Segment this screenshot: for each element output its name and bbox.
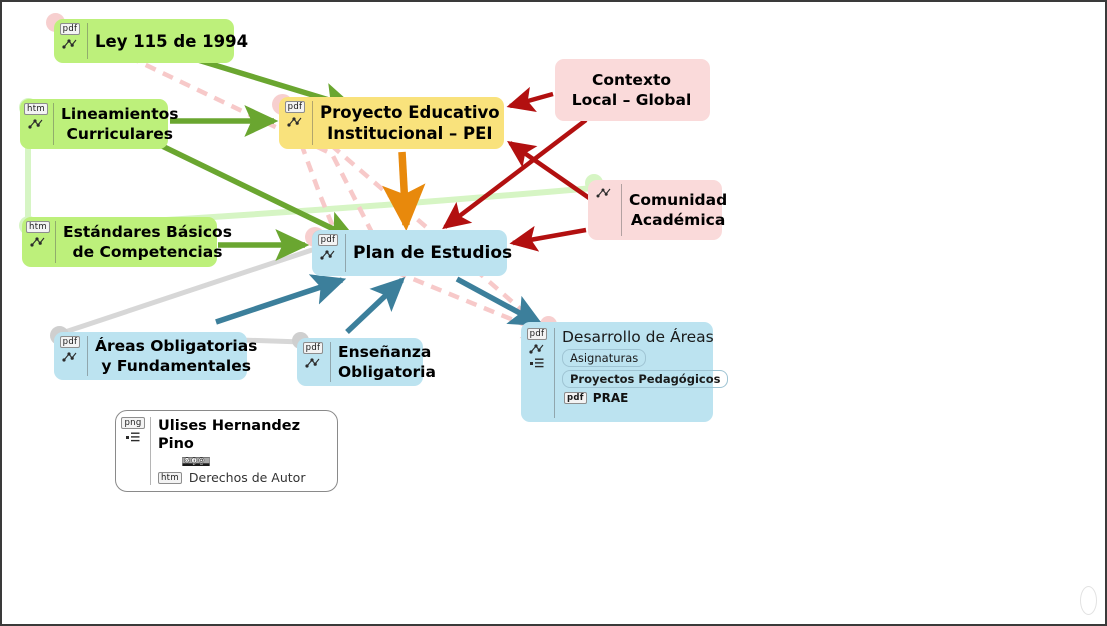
node-gutter: pdf	[316, 234, 346, 272]
node-title-line: de Competencias	[63, 242, 232, 262]
node-title-line: Obligatoria	[338, 362, 436, 382]
author-license-link-label: Derechos de Autor	[189, 470, 306, 485]
node-proyecto-educativo-institucional[interactable]: pdf Proyecto Educativo Institucional – P…	[279, 97, 504, 149]
network-link-icon	[62, 350, 78, 363]
node-desarrollo-de-areas[interactable]: pdf Desarrollo de Áreas Asignaturas Proy…	[521, 322, 713, 422]
edge-areas-plan-arrow	[216, 280, 342, 322]
node-title-line: Áreas Obligatorias	[95, 336, 257, 356]
edge-comunidad-plan	[513, 230, 586, 243]
edge-comunidad-pei	[510, 143, 592, 200]
node-title-line: Curriculares	[61, 124, 179, 144]
creative-commons-badge-icon[interactable]: CC BY SA	[158, 457, 234, 466]
network-link-icon	[28, 117, 44, 130]
file-type-tag: pdf	[60, 336, 81, 348]
node-comunidad-academica[interactable]: Comunidad Académica	[588, 180, 722, 240]
file-type-tag: htm	[26, 221, 50, 233]
node-gutter: pdf	[58, 23, 88, 59]
file-type-tag: pdf	[60, 23, 81, 35]
node-title-line: Lineamientos	[61, 104, 179, 124]
node-title-line: Enseñanza	[338, 342, 436, 362]
svg-text:SA: SA	[200, 464, 203, 466]
file-type-tag: png	[121, 417, 144, 429]
node-title-line: Proyecto Educativo	[320, 102, 500, 123]
network-link-icon	[287, 115, 303, 128]
diagram-canvas: pdf Ley 115 de 1994 htm Lineamientos	[0, 0, 1107, 626]
node-gutter: pdf	[58, 336, 88, 376]
edge-pei-plan	[402, 152, 406, 225]
corner-oval-decoration	[1080, 586, 1097, 615]
author-name: Ulises Hernandez Pino	[158, 417, 329, 453]
child-prae-label: PRAE	[593, 391, 629, 405]
node-title-line: Contexto	[592, 70, 671, 90]
network-link-icon	[596, 186, 612, 199]
node-plan-de-estudios[interactable]: pdf Plan de Estudios	[312, 230, 507, 276]
file-type-tag: htm	[24, 103, 48, 115]
node-body: Áreas Obligatorias y Fundamentales	[95, 336, 257, 376]
node-ensenanza-obligatoria[interactable]: pdf Enseñanza Obligatoria	[297, 338, 423, 386]
file-type-tag: pdf	[303, 342, 324, 354]
node-title-line: Desarrollo de Áreas	[562, 328, 728, 346]
node-body: Lineamientos Curriculares	[61, 103, 179, 145]
node-lineamientos-curriculares[interactable]: htm Lineamientos Curriculares	[20, 99, 168, 149]
edge-ley-desarrollo-dashed	[60, 24, 550, 335]
node-contexto-local-global[interactable]: Contexto Local – Global	[555, 59, 710, 121]
edge-contexto-pei	[510, 94, 553, 106]
edge-ensenanza-plan-arrow	[347, 280, 402, 332]
node-body: Proyecto Educativo Institucional – PEI	[320, 101, 500, 145]
child-proyectos-pedagogicos[interactable]: Proyectos Pedagógicos	[562, 370, 728, 388]
node-gutter: pdf	[283, 101, 313, 145]
file-type-tag: pdf	[318, 234, 339, 246]
list-outline-icon	[125, 431, 141, 444]
node-gutter: png	[121, 417, 151, 485]
child-prae[interactable]: pdf PRAE	[562, 391, 728, 405]
network-link-icon	[320, 248, 336, 261]
node-title-line: Estándares Básicos	[63, 222, 232, 242]
node-areas-obligatorias[interactable]: pdf Áreas Obligatorias y Fundamentales	[54, 332, 247, 380]
network-link-icon	[305, 356, 321, 369]
node-title-line: Comunidad	[629, 190, 727, 210]
file-type-tag: pdf	[285, 101, 306, 113]
node-gutter: htm	[26, 221, 56, 263]
node-gutter	[592, 184, 622, 236]
file-type-tag: htm	[158, 472, 182, 484]
file-type-tag: pdf	[564, 392, 587, 404]
child-asignaturas[interactable]: Asignaturas	[562, 349, 646, 367]
network-link-icon	[62, 37, 78, 50]
network-link-icon	[529, 342, 545, 355]
author-license-link-row[interactable]: htm Derechos de Autor	[158, 470, 329, 485]
edge-pink-dashed-group	[60, 24, 550, 335]
node-body: Plan de Estudios	[353, 234, 512, 272]
node-gutter: htm	[24, 103, 54, 145]
node-gutter: pdf	[525, 328, 555, 418]
node-body: Comunidad Académica	[629, 184, 727, 236]
node-ley-115[interactable]: pdf Ley 115 de 1994	[54, 19, 234, 63]
node-body: Ley 115 de 1994	[95, 23, 248, 59]
edge-teal-group	[216, 279, 540, 332]
node-body: Enseñanza Obligatoria	[338, 342, 436, 382]
node-estandares-basicos[interactable]: htm Estándares Básicos de Competencias	[22, 217, 217, 267]
network-link-icon	[30, 235, 46, 248]
node-body: Desarrollo de Áreas Asignaturas Proyecto…	[562, 328, 728, 418]
node-title-line: Institucional – PEI	[320, 123, 500, 144]
node-title-line: Ley 115 de 1994	[95, 32, 248, 51]
node-body: Ulises Hernandez Pino CC BY SA htm Derec…	[158, 417, 329, 485]
node-body: Estándares Básicos de Competencias	[63, 221, 232, 263]
node-body: Contexto Local – Global	[559, 70, 704, 110]
node-title-line: Plan de Estudios	[353, 243, 512, 264]
node-title-line: Local – Global	[572, 90, 692, 110]
node-gutter: pdf	[301, 342, 331, 382]
node-title-line: y Fundamentales	[95, 356, 257, 376]
edge-plan-desarrollo	[457, 279, 540, 324]
node-author-license[interactable]: png Ulises Hernandez Pino CC B	[115, 410, 338, 492]
edge-orange-group	[402, 152, 406, 225]
file-type-tag: pdf	[527, 328, 548, 340]
svg-text:CC: CC	[185, 459, 189, 463]
node-title-line: Académica	[629, 210, 727, 230]
list-outline-icon	[529, 357, 545, 370]
